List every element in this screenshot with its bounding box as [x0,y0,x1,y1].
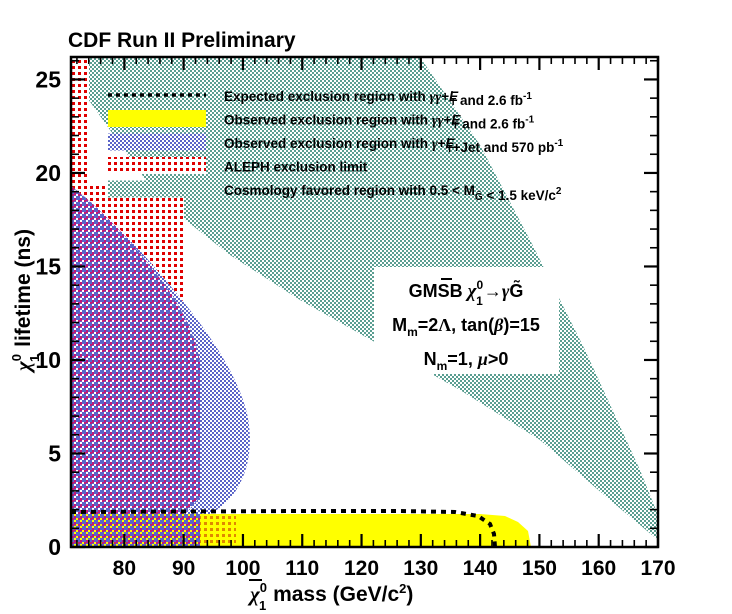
x-tick-label: 90 [172,557,195,580]
page-title: CDF Run II Preliminary [68,29,296,52]
physics-exclusion-plot: CDF Run II Preliminary 80901001101201301… [0,0,732,614]
y-tick-label: 0 [48,534,61,560]
plot-root: CDF Run II Preliminary 80901001101201301… [0,0,732,614]
x-tick-label: 130 [403,557,438,580]
y-tick-label: 5 [48,440,61,466]
y-tick-label: 20 [35,160,61,186]
legend-swatch-red-hatch [108,157,206,174]
x-tick-label: 140 [463,557,498,580]
legend-swatch-blue-hatch [108,134,206,151]
y-tick-label: 25 [35,66,61,92]
x-tick-label: 110 [285,557,319,580]
x-tick-label: 150 [522,557,557,580]
legend-swatch-teal-hatch [108,181,206,198]
legend-swatch-yellow-fill [108,110,206,127]
x-tick-label: 160 [581,557,616,580]
x-tick-label: 80 [113,557,136,580]
annotation-box: GMSB χ01→γG̃ Mm=2Λ, tan(β)=15 Nm=1, μ>0 [374,267,559,374]
y-tick-label: 15 [35,253,61,279]
legend-label: ALEPH exclusion limit [224,160,368,175]
legend-entry: ALEPH exclusion limit [108,157,368,175]
x-tick-label: 120 [344,557,379,580]
x-tick-label: 170 [640,557,675,580]
x-tick-label: 100 [225,557,260,580]
